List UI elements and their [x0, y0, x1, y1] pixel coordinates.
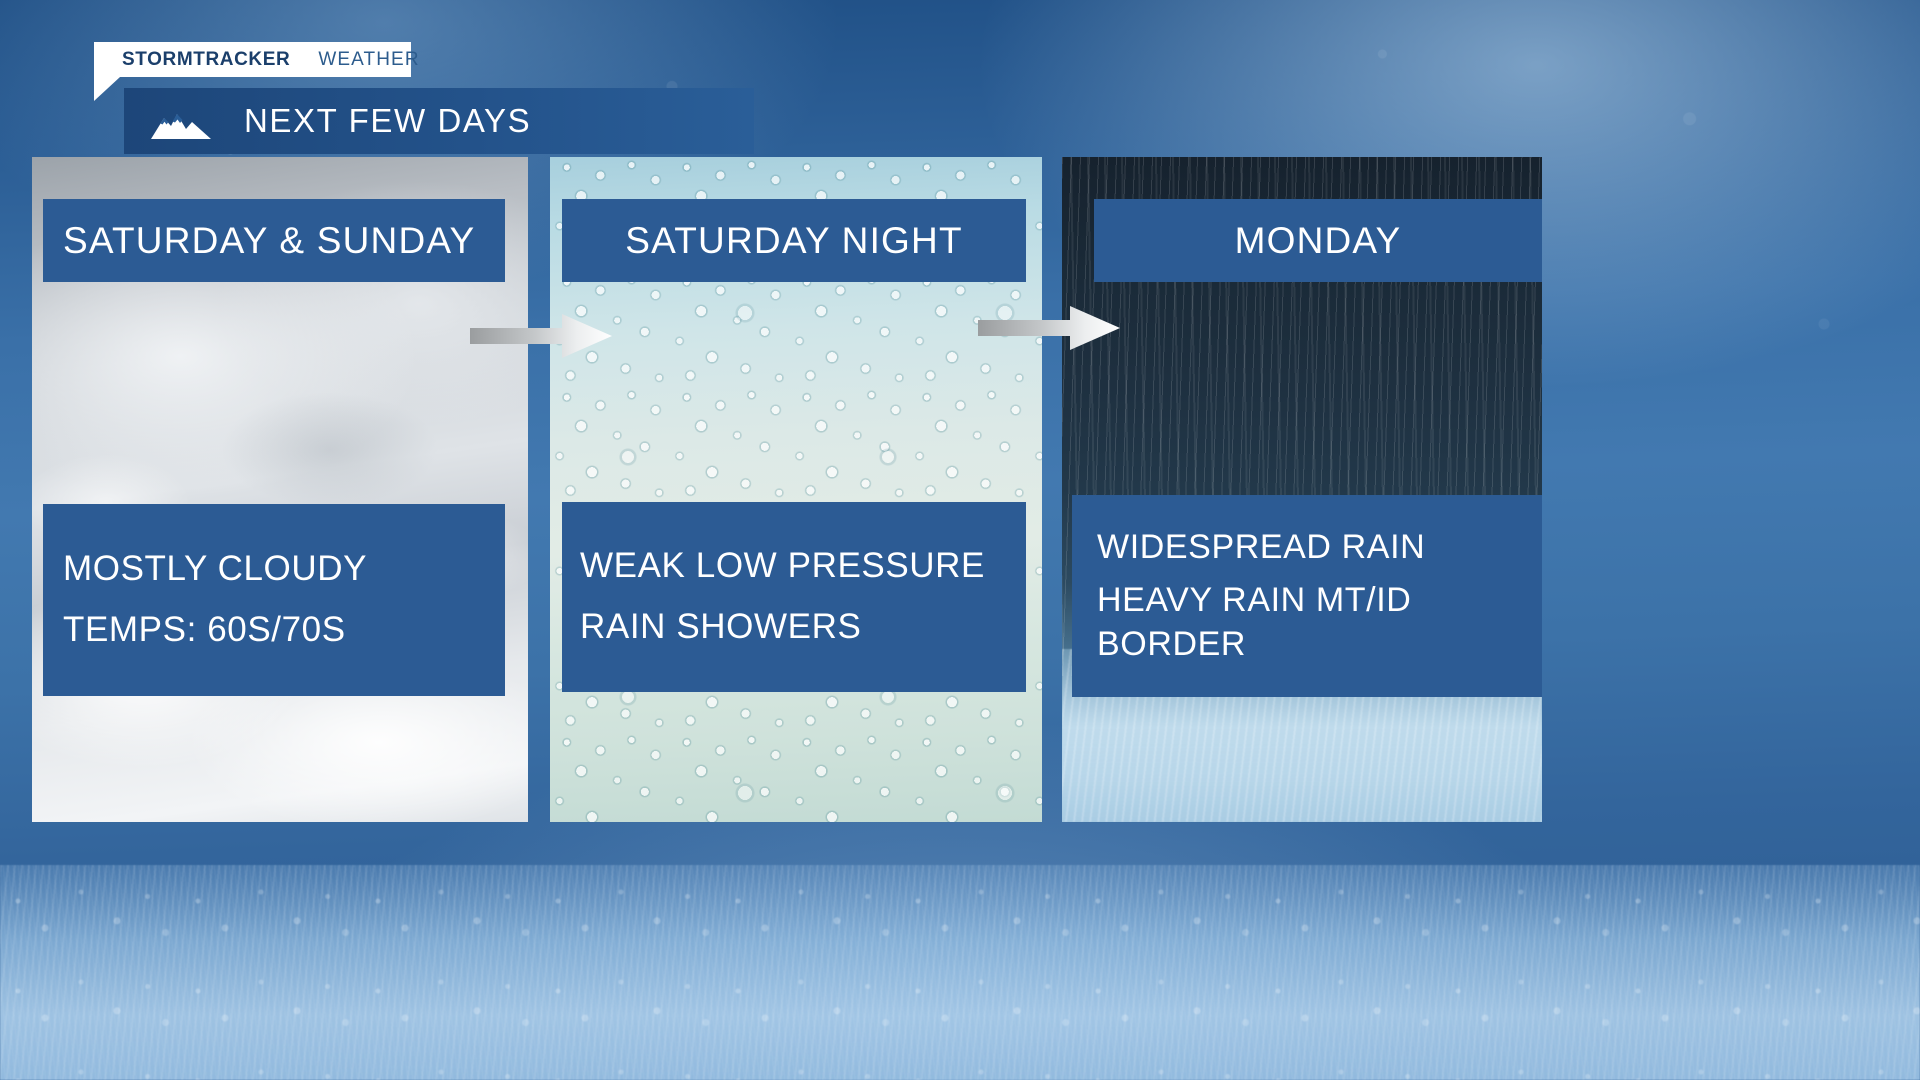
title-bar: NEXT FEW DAYS	[124, 88, 754, 154]
panel-header-block: SATURDAY & SUNDAY	[43, 199, 505, 282]
forecast-panel-saturday-night: SATURDAY NIGHT WEAK LOW PRESSURE RAIN SH…	[550, 157, 1042, 822]
brand-secondary-label: WEATHER	[318, 49, 419, 71]
panel-header-label: SATURDAY & SUNDAY	[63, 220, 475, 262]
panel-header-block: SATURDAY NIGHT	[562, 199, 1026, 282]
panel-body-block: MOSTLY CLOUDY TEMPS: 60S/70S	[43, 504, 505, 696]
mountain-icon	[150, 101, 212, 141]
panel-header-block: MONDAY	[1094, 199, 1542, 282]
panel-body-line: WIDESPREAD RAIN	[1097, 526, 1542, 570]
panel-header-label: SATURDAY NIGHT	[625, 220, 963, 262]
panel-body-line: WEAK LOW PRESSURE	[580, 544, 1026, 589]
forecast-panel-saturday-sunday: SATURDAY & SUNDAY MOSTLY CLOUDY TEMPS: 6…	[32, 157, 528, 822]
panel-body-line: RAIN SHOWERS	[580, 605, 1026, 650]
panel-header-label: MONDAY	[1235, 220, 1402, 262]
panel-body-line: TEMPS: 60S/70S	[63, 608, 505, 653]
panel-body-line: MOSTLY CLOUDY	[63, 547, 505, 592]
title-bar-text: NEXT FEW DAYS	[244, 102, 531, 140]
brand-primary-label: STORMTRACKER	[122, 49, 290, 71]
panel-body-block: WEAK LOW PRESSURE RAIN SHOWERS	[562, 502, 1026, 692]
forecast-panel-monday: MONDAY WIDESPREAD RAIN HEAVY RAIN MT/ID …	[1062, 157, 1542, 822]
brand-logo-tab: STORMTRACKER WEATHER	[94, 42, 411, 77]
panel-body-line: HEAVY RAIN MT/ID BORDER	[1097, 579, 1542, 666]
arrow-right-icon	[470, 313, 612, 359]
panel-body-block: WIDESPREAD RAIN HEAVY RAIN MT/ID BORDER	[1072, 495, 1542, 697]
arrow-right-icon	[978, 305, 1120, 351]
brand-tab-tail	[94, 77, 120, 101]
background-water	[0, 865, 1920, 1080]
